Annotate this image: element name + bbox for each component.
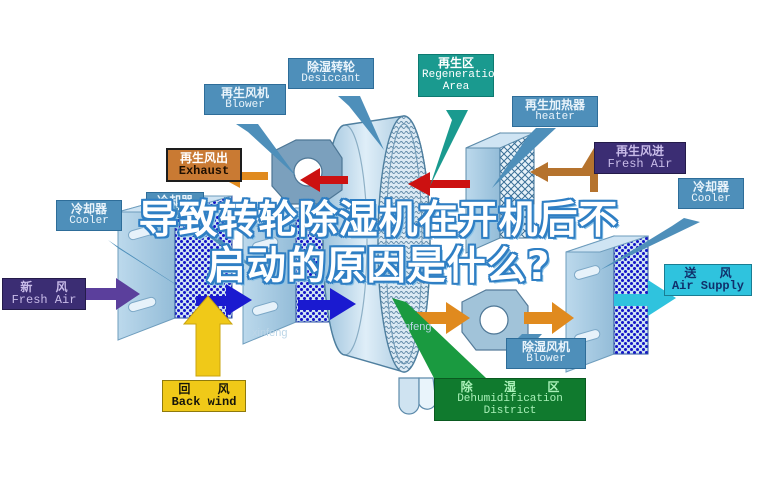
- label-exhaust: 再生风出 Exhaust: [166, 148, 242, 182]
- label-regeneration-blower: 再生风机 Blower: [204, 84, 286, 115]
- label-en: Regeneration Area: [422, 70, 490, 94]
- label-en: Exhaust: [171, 165, 237, 178]
- label-en: Dehumidification District: [438, 394, 582, 418]
- label-regeneration-heater: 再生加热器 heater: [512, 96, 598, 127]
- label-cn: 冷却器: [682, 181, 740, 194]
- label-en: Back wind: [166, 396, 242, 409]
- label-en: Blower: [209, 100, 281, 112]
- headline-line-2: 启动的原因是什么?: [0, 244, 757, 290]
- label-cn: 再生风出: [171, 152, 237, 165]
- label-en: Blower: [511, 354, 581, 366]
- label-regeneration-fresh-air: 再生风进 Fresh Air: [594, 142, 686, 174]
- label-dehumidification-blower: 除湿风机 Blower: [506, 338, 586, 369]
- headline-overlay: 导致转轮除湿机在开机后不 启动的原因是什么?: [0, 198, 757, 290]
- label-en: heater: [517, 112, 593, 124]
- svg-text:xinfeng: xinfeng: [396, 321, 431, 333]
- label-regeneration-area: 再生区 Regeneration Area: [418, 54, 494, 97]
- label-cn: 除 湿 区: [438, 381, 582, 394]
- label-cn: 再生风机: [209, 87, 281, 100]
- label-cn: 再生加热器: [517, 99, 593, 112]
- label-dehumidification-district: 除 湿 区 Dehumidification District: [434, 378, 586, 421]
- headline-line-1: 导致转轮除湿机在开机后不: [0, 198, 757, 244]
- watermark-text: xinfeng: [252, 327, 287, 339]
- label-en: Desiccant: [293, 74, 369, 86]
- label-desiccant-rotor: 除湿转轮 Desiccant: [288, 58, 374, 89]
- label-en: Fresh Air: [6, 294, 82, 307]
- dehumidifier-diagram: xinfeng xinfeng 再生风机 Blower 除湿转轮 Desicca…: [0, 0, 757, 488]
- label-cn: 除湿转轮: [293, 61, 369, 74]
- label-back-wind: 回 风 Back wind: [162, 380, 246, 412]
- regeneration-blower-unit: [272, 140, 342, 204]
- label-cn: 再生区: [422, 57, 490, 70]
- label-en: Fresh Air: [598, 158, 682, 171]
- label-cn: 再生风进: [598, 145, 682, 158]
- label-cn: 除湿风机: [511, 341, 581, 354]
- label-cn: 回 风: [166, 383, 242, 396]
